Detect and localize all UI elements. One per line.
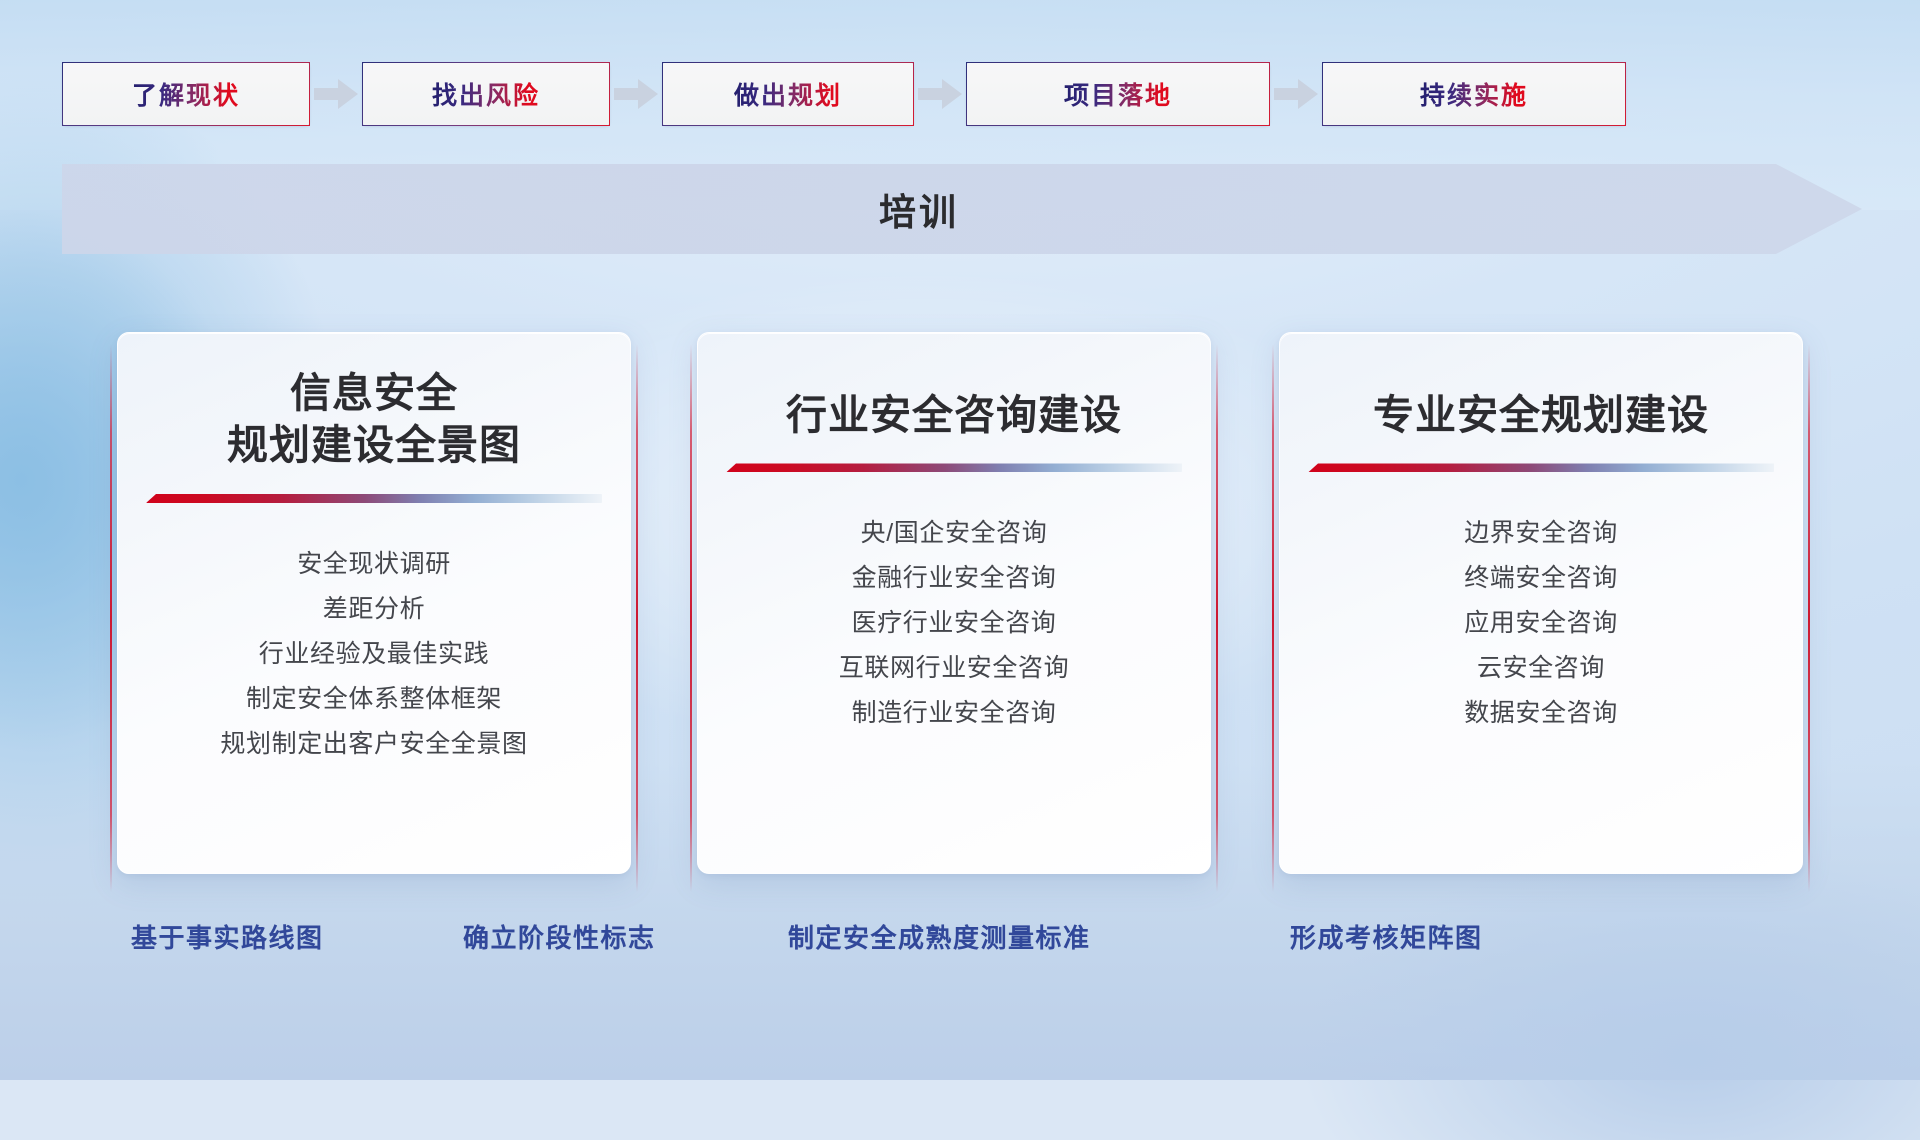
list-item: 制造行业安全咨询 xyxy=(852,691,1057,736)
gradient-divider xyxy=(118,494,630,512)
card-title: 专业安全规划建设 xyxy=(1355,389,1727,441)
card-title-line: 行业安全咨询建设 xyxy=(786,389,1122,441)
list-item: 医疗行业安全咨询 xyxy=(852,601,1057,646)
slide-stage: 了解现状 找出风险 做出规划 项目落地 xyxy=(0,0,1920,1080)
caption-maturity-standard: 制定安全成熟度测量标准 xyxy=(788,916,1091,960)
card-slot-2: 行业安全咨询建设 央/国企安全咨询 金融行业安全咨询 医疗行业安全咨询 互联网行… xyxy=(690,332,1218,872)
card-slot-3: 专业安全规划建设 边界安全咨询 终端安全咨询 应用安全咨询 云安全咨询 数据安全… xyxy=(1272,332,1810,872)
list-item: 行业经验及最佳实践 xyxy=(259,632,489,677)
card-information-security-blueprint[interactable]: 信息安全 规划建设全景图 安全现状调研 差距分析 行业经验及最佳实践 制定安全体… xyxy=(117,332,631,874)
card-item-list: 央/国企安全咨询 金融行业安全咨询 医疗行业安全咨询 互联网行业安全咨询 制造行… xyxy=(698,511,1210,736)
card-slot-1: 信息安全 规划建设全景图 安全现状调研 差距分析 行业经验及最佳实践 制定安全体… xyxy=(110,332,638,872)
card-accent-line-right xyxy=(1216,344,1218,892)
list-item: 终端安全咨询 xyxy=(1464,556,1618,601)
caption-roadmap: 基于事实路线图 xyxy=(131,916,324,960)
card-item-list: 边界安全咨询 终端安全咨询 应用安全咨询 云安全咨询 数据安全咨询 xyxy=(1280,511,1802,736)
list-item: 应用安全咨询 xyxy=(1464,601,1618,646)
list-item: 制定安全体系整体框架 xyxy=(246,677,502,722)
list-item: 央/国企安全咨询 xyxy=(861,511,1048,556)
list-item: 规划制定出客户安全全景图 xyxy=(220,722,527,767)
caption-assessment-matrix: 形成考核矩阵图 xyxy=(1290,916,1483,960)
card-accent-line-right xyxy=(1808,344,1810,892)
card-accent-line-left xyxy=(110,344,112,892)
list-item: 数据安全咨询 xyxy=(1464,691,1618,736)
list-item: 安全现状调研 xyxy=(297,542,451,587)
card-title-line: 信息安全 xyxy=(227,367,521,419)
gradient-divider xyxy=(1280,463,1802,481)
list-item: 边界安全咨询 xyxy=(1464,511,1618,556)
card-accent-line-left xyxy=(690,344,692,892)
card-title: 信息安全 规划建设全景图 xyxy=(209,367,539,472)
card-industry-security-consulting[interactable]: 行业安全咨询建设 央/国企安全咨询 金融行业安全咨询 医疗行业安全咨询 互联网行… xyxy=(697,332,1211,874)
card-title-line: 专业安全规划建设 xyxy=(1373,389,1709,441)
list-item: 云安全咨询 xyxy=(1477,646,1605,691)
card-accent-line-right xyxy=(636,344,638,892)
card-title: 行业安全咨询建设 xyxy=(768,389,1140,441)
card-accent-line-left xyxy=(1272,344,1274,892)
list-item: 金融行业安全咨询 xyxy=(852,556,1057,601)
card-item-list: 安全现状调研 差距分析 行业经验及最佳实践 制定安全体系整体框架 规划制定出客户… xyxy=(118,542,630,767)
list-item: 互联网行业安全咨询 xyxy=(839,646,1069,691)
list-item: 差距分析 xyxy=(323,587,425,632)
caption-row: 基于事实路线图 确立阶段性标志 制定安全成熟度测量标准 形成考核矩阵图 xyxy=(0,916,1920,966)
card-professional-security-planning[interactable]: 专业安全规划建设 边界安全咨询 终端安全咨询 应用安全咨询 云安全咨询 数据安全… xyxy=(1279,332,1803,874)
card-title-line: 规划建设全景图 xyxy=(227,419,521,471)
gradient-divider xyxy=(698,463,1210,481)
caption-milestones: 确立阶段性标志 xyxy=(463,916,656,960)
